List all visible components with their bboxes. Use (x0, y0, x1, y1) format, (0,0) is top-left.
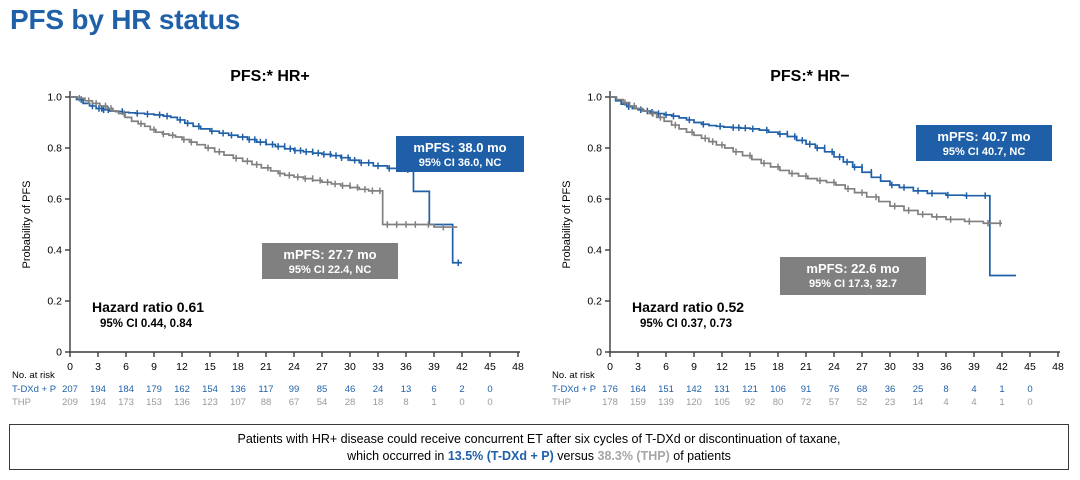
x-tick-label: 24 (288, 361, 300, 370)
x-tick-label: 48 (512, 361, 524, 370)
km-plot-hr-positive: 00.20.40.60.81.0Probability of PFS036912… (0, 60, 540, 370)
risk-row-label: THP (552, 397, 571, 408)
x-tick-label: 0 (67, 361, 73, 370)
risk-cell: 105 (714, 397, 730, 408)
risk-cell: 1 (999, 397, 1004, 408)
risk-cell: 117 (258, 384, 273, 395)
risk-cell: 80 (773, 397, 784, 408)
risk-cell: 46 (345, 384, 356, 395)
x-tick-label: 18 (772, 361, 784, 370)
risk-cell: 0 (1027, 397, 1032, 408)
risk-row-label: T-DXd + P (552, 384, 596, 395)
risk-cell: 85 (317, 384, 328, 395)
x-tick-label: 9 (691, 361, 697, 370)
risk-cell: 92 (745, 397, 756, 408)
y-tick-label: 0.8 (587, 143, 602, 155)
x-tick-label: 33 (372, 361, 384, 370)
risk-cell: 121 (742, 384, 758, 395)
footnote-text: Patients with HR+ disease could receive … (10, 431, 1068, 465)
risk-cell: 76 (829, 384, 840, 395)
y-axis-title: Probability of PFS (561, 180, 573, 268)
risk-cell: 179 (146, 384, 162, 395)
x-tick-label: 6 (663, 361, 669, 370)
annotation-line-2: 95% CI 22.4, NC (289, 264, 372, 276)
annotation-line-1: mPFS: 40.7 mo (937, 129, 1030, 144)
risk-cell: 107 (230, 397, 246, 408)
x-tick-label: 15 (204, 361, 216, 370)
hazard-ratio-label: Hazard ratio 0.61 (92, 299, 204, 315)
risk-cell: 8 (943, 384, 948, 395)
x-tick-label: 3 (635, 361, 641, 370)
risk-cell: 23 (885, 397, 896, 408)
y-axis-title: Probability of PFS (21, 180, 33, 268)
x-tick-label: 9 (151, 361, 157, 370)
mpfs-blue-box: mPFS: 38.0 mo95% CI 36.0, NC (396, 136, 524, 172)
x-tick-label: 18 (232, 361, 244, 370)
footnote-box: Patients with HR+ disease could receive … (9, 424, 1069, 470)
x-tick-label: 30 (884, 361, 896, 370)
y-tick-label: 0.2 (587, 296, 602, 308)
annotation-line-2: 95% CI 17.3, 32.7 (809, 278, 897, 290)
y-tick-label: 0.6 (587, 194, 602, 206)
x-tick-label: 15 (744, 361, 756, 370)
x-tick-label: 42 (456, 361, 468, 370)
annotation-line-1: mPFS: 27.7 mo (283, 247, 376, 262)
risk-cell: 36 (885, 384, 896, 395)
y-tick-label: 0 (596, 347, 602, 359)
footnote-pre: which occurred in (347, 449, 448, 463)
risk-cell: 120 (686, 397, 702, 408)
x-tick-label: 39 (428, 361, 440, 370)
risk-cell: 136 (230, 384, 246, 395)
x-tick-label: 30 (344, 361, 356, 370)
x-tick-label: 45 (484, 361, 496, 370)
risk-row-thp: THP178159139120105928072575223144410 (540, 397, 1080, 410)
mpfs-blue-box: mPFS: 40.7 mo95% CI 40.7, NC (916, 125, 1052, 161)
risk-cell: 0 (487, 384, 492, 395)
risk-table-hr-positive: No. at risk T-DXd + P2071941841791621541… (0, 370, 540, 430)
risk-row-label: T-DXd + P (12, 384, 56, 395)
risk-cell: 136 (174, 397, 190, 408)
risk-row-tdxd: T-DXd + P2071941841791621541361179985462… (0, 384, 540, 397)
x-tick-label: 24 (828, 361, 840, 370)
annotation-line-1: mPFS: 38.0 mo (413, 140, 506, 155)
risk-cell: 106 (770, 384, 786, 395)
y-tick-label: 0.4 (47, 245, 62, 257)
footnote-blue-stat: 13.5% (T-DXd + P) (448, 449, 554, 463)
risk-cell: 2 (459, 384, 464, 395)
x-tick-label: 6 (123, 361, 129, 370)
x-tick-label: 33 (912, 361, 924, 370)
x-tick-label: 36 (940, 361, 952, 370)
risk-cell: 6 (431, 384, 436, 395)
risk-cell: 153 (146, 397, 162, 408)
risk-cell: 1 (999, 384, 1004, 395)
risk-cell: 173 (118, 397, 134, 408)
hazard-ratio-ci: 95% CI 0.44, 0.84 (100, 318, 193, 330)
x-tick-label: 0 (607, 361, 613, 370)
risk-cell: 14 (913, 397, 924, 408)
risk-row-label: THP (12, 397, 31, 408)
x-tick-label: 36 (400, 361, 412, 370)
risk-cell: 52 (857, 397, 868, 408)
risk-cell: 72 (801, 397, 812, 408)
risk-cell: 68 (857, 384, 868, 395)
footnote-line-2: which occurred in 13.5% (T-DXd + P) vers… (10, 448, 1068, 465)
mpfs-gray-box: mPFS: 27.7 mo95% CI 22.4, NC (262, 243, 398, 279)
risk-cell: 154 (202, 384, 218, 395)
risk-cell: 194 (90, 397, 106, 408)
risk-cell: 0 (1027, 384, 1032, 395)
y-tick-label: 1.0 (587, 92, 602, 104)
risk-cell: 194 (90, 384, 106, 395)
mpfs-gray-box: mPFS: 22.6 mo95% CI 17.3, 32.7 (780, 257, 926, 295)
x-tick-label: 45 (1024, 361, 1036, 370)
risk-cell: 0 (459, 397, 464, 408)
risk-cell: 25 (913, 384, 924, 395)
risk-cell: 142 (686, 384, 702, 395)
chart-panel-hr-positive: PFS:* HR+ 00.20.40.60.81.0Probability of… (0, 60, 540, 420)
risk-cell: 123 (202, 397, 218, 408)
risk-cell: 209 (62, 397, 78, 408)
risk-table-header: No. at risk (552, 370, 595, 381)
risk-cell: 151 (658, 384, 674, 395)
risk-cell: 131 (714, 384, 730, 395)
annotation-line-2: 95% CI 36.0, NC (419, 157, 502, 169)
risk-cell: 139 (658, 397, 674, 408)
risk-row-tdxd: T-DXd + P1761641511421311211069176683625… (540, 384, 1080, 397)
risk-cell: 176 (602, 384, 618, 395)
y-tick-label: 1.0 (47, 92, 62, 104)
y-tick-label: 0.4 (587, 245, 602, 257)
risk-table-hr-negative: No. at risk T-DXd + P1761641511421311211… (540, 370, 1080, 430)
annotation-line-1: mPFS: 22.6 mo (806, 261, 899, 276)
hazard-ratio-label: Hazard ratio 0.52 (632, 299, 744, 315)
risk-row-thp: THP20919417315313612310788675428188100 (0, 397, 540, 410)
chart-panel-hr-negative: PFS:* HR− 00.20.40.60.81.0Probability of… (540, 60, 1080, 420)
km-curve-tdxd (70, 97, 462, 263)
risk-cell: 67 (289, 397, 300, 408)
risk-cell: 159 (630, 397, 646, 408)
y-tick-label: 0.2 (47, 296, 62, 308)
risk-cell: 24 (373, 384, 384, 395)
risk-cell: 99 (289, 384, 300, 395)
risk-cell: 1 (431, 397, 436, 408)
footnote-post: of patients (670, 449, 731, 463)
x-tick-label: 21 (800, 361, 812, 370)
risk-cell: 164 (630, 384, 646, 395)
x-tick-label: 3 (95, 361, 101, 370)
y-tick-label: 0.8 (47, 143, 62, 155)
footnote-mid: versus (554, 449, 598, 463)
risk-cell: 88 (261, 397, 272, 408)
y-tick-label: 0 (56, 347, 62, 359)
x-tick-label: 27 (316, 361, 328, 370)
risk-cell: 0 (487, 397, 492, 408)
risk-cell: 18 (373, 397, 384, 408)
risk-cell: 28 (345, 397, 356, 408)
x-tick-label: 42 (996, 361, 1008, 370)
risk-cell: 184 (118, 384, 134, 395)
risk-cell: 57 (829, 397, 840, 408)
risk-cell: 4 (943, 397, 948, 408)
risk-cell: 4 (971, 384, 976, 395)
risk-cell: 54 (317, 397, 328, 408)
footnote-gray-stat: 38.3% (THP) (598, 449, 670, 463)
x-tick-label: 27 (856, 361, 868, 370)
x-tick-label: 12 (716, 361, 728, 370)
risk-cell: 162 (174, 384, 190, 395)
risk-cell: 178 (602, 397, 618, 408)
footnote-line-1: Patients with HR+ disease could receive … (10, 431, 1068, 448)
risk-cell: 207 (62, 384, 78, 395)
x-tick-label: 39 (968, 361, 980, 370)
x-tick-label: 12 (176, 361, 188, 370)
risk-cell: 91 (801, 384, 812, 395)
km-plot-hr-negative: 00.20.40.60.81.0Probability of PFS036912… (540, 60, 1080, 370)
x-tick-label: 21 (260, 361, 272, 370)
risk-cell: 13 (401, 384, 412, 395)
risk-cell: 4 (971, 397, 976, 408)
risk-cell: 8 (403, 397, 408, 408)
y-tick-label: 0.6 (47, 194, 62, 206)
page-title: PFS by HR status (10, 4, 240, 36)
risk-table-header: No. at risk (12, 370, 55, 381)
x-tick-label: 48 (1052, 361, 1064, 370)
annotation-line-2: 95% CI 40.7, NC (943, 146, 1026, 158)
hazard-ratio-ci: 95% CI 0.37, 0.73 (640, 318, 732, 330)
